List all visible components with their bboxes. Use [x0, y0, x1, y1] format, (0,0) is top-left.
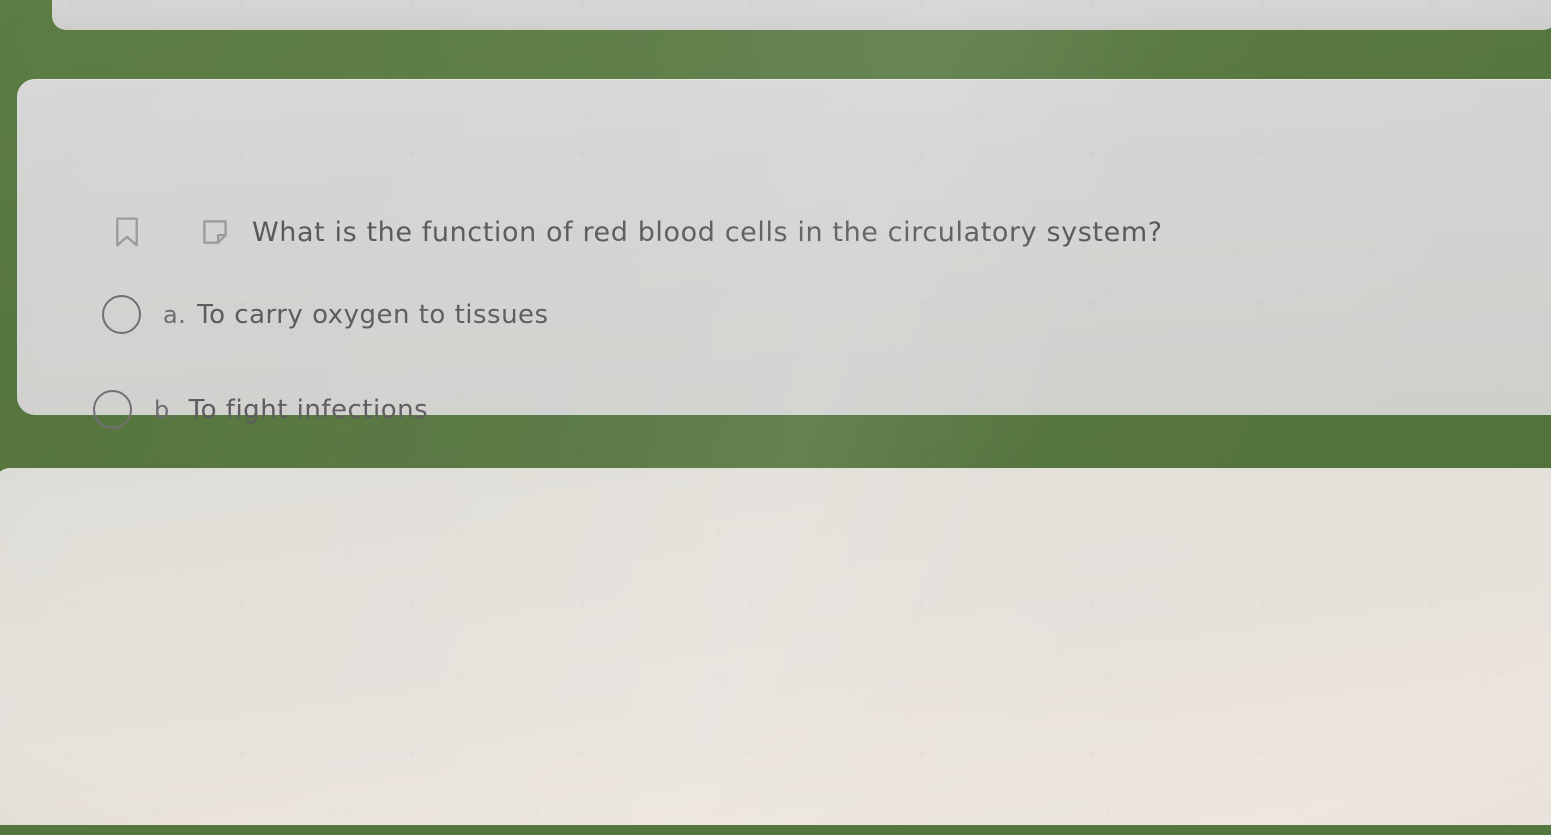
- quiz-screen: What is the function of red blood cells …: [0, 0, 1551, 825]
- question-1-option-a[interactable]: a. To carry oxygen to tissues: [102, 295, 549, 334]
- option-letter: b.: [154, 396, 178, 424]
- question-card-2[interactable]: Which component of blood helps to regula…: [0, 468, 1551, 825]
- radio-button[interactable]: [93, 390, 132, 429]
- option-letter: a.: [163, 301, 186, 329]
- previous-question-card-partial[interactable]: [52, 0, 1551, 30]
- bookmark-icon[interactable]: [112, 215, 142, 249]
- question-1-header: What is the function of red blood cells …: [112, 215, 1163, 249]
- option-label: To fight infections: [189, 395, 428, 425]
- question-1-prompt: What is the function of red blood cells …: [252, 217, 1163, 248]
- sticky-note-icon[interactable]: [200, 217, 230, 247]
- radio-button[interactable]: [102, 295, 141, 334]
- question-1-option-b[interactable]: b. To fight infections: [93, 390, 428, 429]
- question-card-1[interactable]: What is the function of red blood cells …: [17, 79, 1551, 415]
- option-label: To carry oxygen to tissues: [197, 300, 548, 330]
